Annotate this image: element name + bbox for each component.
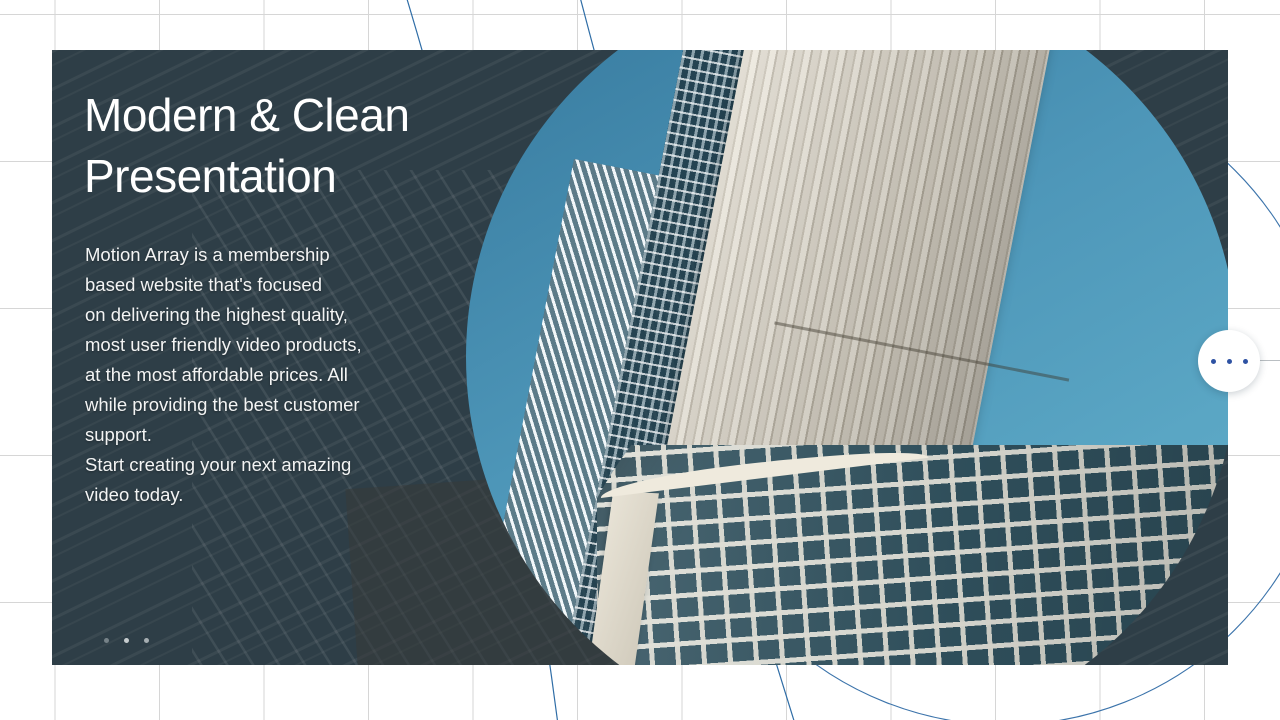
more-dot-2 [1227,359,1232,364]
more-options-button[interactable] [1198,330,1260,392]
more-dot-3 [1243,359,1248,364]
pagination-dot-1[interactable] [104,638,109,643]
more-dot-1 [1211,359,1216,364]
pagination-dot-2[interactable] [124,638,129,643]
slide-body-text: Motion Array is a membership based websi… [85,240,485,510]
slide-title: Modern & Clean Presentation [84,85,514,207]
slide-text-column: Modern & Clean Presentation Motion Array… [84,50,504,665]
presentation-slide: Modern & Clean Presentation Motion Array… [52,50,1228,665]
slide-pagination-dots[interactable] [104,638,149,643]
pagination-dot-3[interactable] [144,638,149,643]
